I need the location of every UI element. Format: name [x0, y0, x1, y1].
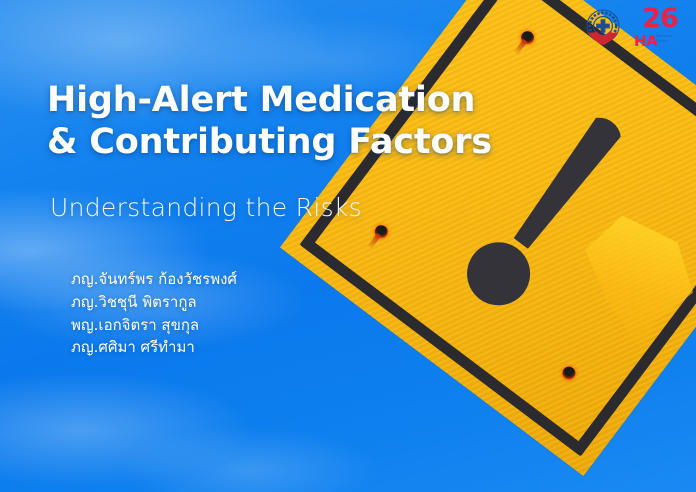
rust-streak	[513, 39, 527, 56]
exclamation-dot-icon	[455, 229, 543, 317]
sign-bolt	[372, 223, 390, 241]
title-line-1: High-Alert Medication	[47, 80, 475, 120]
rust-streak	[366, 233, 380, 250]
sign-damage-patch	[551, 201, 696, 363]
ha-anniversary-number: 26	[632, 3, 688, 34]
moph-emblem-icon	[580, 6, 626, 52]
ha-sub-line-1: National	[656, 34, 672, 38]
author-name: ภญ.ศศิมา ศรีทำมา	[71, 336, 391, 359]
ha-wordmark: HA	[634, 32, 657, 50]
author-name: ภญ.จันทร์พร ก้องวัชรพงศ์	[71, 268, 391, 291]
page-title: High-Alert Medication & Contributing Fac…	[47, 79, 517, 163]
exclamation-bar-icon	[503, 109, 630, 257]
page-subtitle: Understanding the Risks	[50, 193, 510, 222]
sign-bolt	[518, 28, 536, 46]
sign-bolt	[560, 364, 578, 382]
ministry-of-public-health-logo	[580, 6, 626, 52]
title-slide: 26 HA National Forum High-Alert Medicati…	[0, 0, 696, 492]
author-name: พญ.เอกจิตรา สุขกุล	[71, 314, 391, 337]
author-name: ภญ.วิชชุนี พิตรากูล	[71, 291, 391, 314]
title-line-2: & Contributing Factors	[47, 121, 517, 163]
ha-sub-line-2: Forum	[656, 39, 668, 43]
warning-exclamation-sign	[280, 0, 696, 476]
sign-border	[300, 0, 696, 456]
logo-group: 26 HA National Forum	[580, 5, 688, 53]
author-list: ภญ.จันทร์พร ก้องวัชรพงศ์ ภญ.วิชชุนี พิตร…	[71, 268, 391, 359]
ha-26-anniversary-logo: 26 HA National Forum	[632, 5, 688, 53]
ha-sub-label: National Forum	[656, 34, 688, 44]
